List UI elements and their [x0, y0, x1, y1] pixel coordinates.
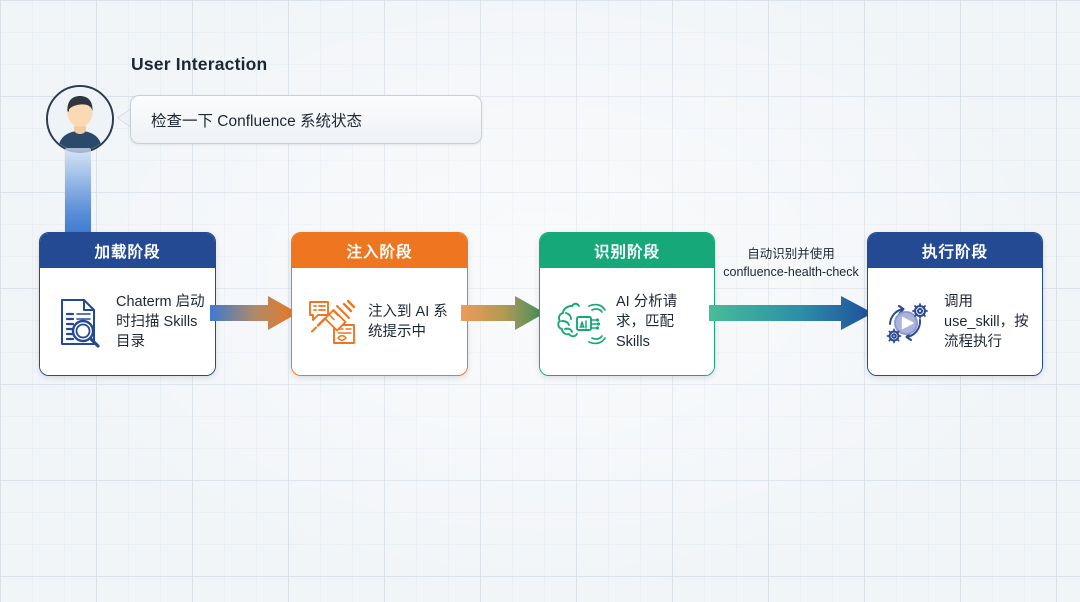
card-load-text: Chaterm 启动时扫描 Skills 目录: [116, 292, 205, 352]
arrow-detect-to-exec: [709, 293, 873, 333]
card-detect-phase[interactable]: 识别阶段: [539, 232, 715, 376]
card-load-header: 加载阶段: [40, 233, 215, 268]
syringe-inject-icon: [304, 294, 360, 350]
ai-brain-chip-icon: [552, 294, 608, 350]
card-exec-header: 执行阶段: [868, 233, 1042, 268]
card-exec-phase[interactable]: 执行阶段: [867, 232, 1043, 376]
card-detect-text: AI 分析请求，匹配 Skills: [616, 292, 704, 352]
edge-label-line1: 自动识别并使用: [709, 246, 873, 264]
play-gears-icon: [880, 294, 936, 350]
user-message-bubble: 检查一下 Confluence 系统状态: [130, 95, 482, 144]
arrow-load-to-inject: [210, 293, 298, 333]
card-inject-header: 注入阶段: [292, 233, 467, 268]
document-scan-icon: [52, 294, 108, 350]
user-message-text: 检查一下 Confluence 系统状态: [131, 109, 362, 131]
card-load-body: Chaterm 启动时扫描 Skills 目录: [40, 268, 215, 375]
card-inject-body: 注入到 AI 系统提示中: [292, 268, 467, 375]
edge-label-line2: confluence-health-check: [709, 264, 873, 282]
connector-user-to-load: [65, 148, 91, 236]
edge-label-detect-to-exec: 自动识别并使用 confluence-health-check: [709, 246, 873, 282]
card-load-phase[interactable]: 加载阶段 Chaterm 启动时扫描 Skills 目录: [39, 232, 216, 376]
card-detect-body: AI 分析请求，匹配 Skills: [540, 268, 714, 375]
card-exec-text: 调用 use_skill，按流程执行: [944, 292, 1032, 352]
card-exec-body: 调用 use_skill，按流程执行: [868, 268, 1042, 375]
card-inject-phase[interactable]: 注入阶段: [291, 232, 468, 376]
section-title: User Interaction: [131, 54, 267, 75]
user-avatar: [46, 85, 114, 153]
card-detect-header: 识别阶段: [540, 233, 714, 268]
arrow-inject-to-detect: [461, 293, 545, 333]
card-inject-text: 注入到 AI 系统提示中: [368, 302, 457, 342]
